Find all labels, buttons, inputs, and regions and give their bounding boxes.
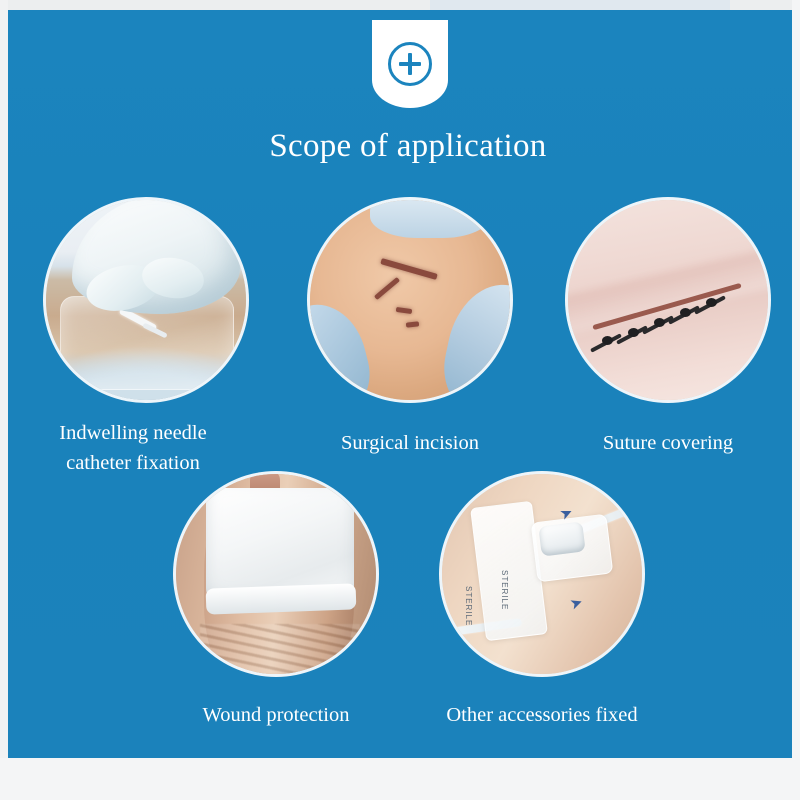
suture-knot bbox=[654, 318, 665, 327]
suture-knot bbox=[706, 298, 717, 307]
suture-knot bbox=[602, 336, 613, 345]
bottom-margin-strip bbox=[0, 758, 800, 800]
left-margin-strip bbox=[0, 0, 8, 800]
caption-other-accessories-fixed: Other accessories fixed bbox=[412, 700, 672, 730]
suture-knot bbox=[628, 328, 639, 337]
page-title: Scope of application bbox=[8, 128, 800, 165]
photo-surgical-incision bbox=[310, 200, 510, 400]
catheter-hub-shape bbox=[538, 521, 585, 556]
caption-surgical-incision: Surgical incision bbox=[298, 428, 522, 458]
right-margin-strip bbox=[792, 0, 800, 800]
tape-label-text: STERILE bbox=[500, 570, 509, 610]
gauze-edge-shape bbox=[206, 583, 357, 614]
caption-indwelling-needle: Indwelling needle catheter fixation bbox=[8, 418, 258, 478]
caption-suture-covering: Suture covering bbox=[556, 428, 780, 458]
top-margin-strip bbox=[0, 0, 800, 10]
plus-vertical-bar bbox=[408, 53, 412, 75]
tape-label-text: STERILE bbox=[464, 586, 473, 626]
caption-wound-protection: Wound protection bbox=[148, 700, 404, 730]
surgical-drape-shape bbox=[370, 200, 490, 238]
photo-indwelling-needle bbox=[46, 200, 246, 400]
blue-banner-panel: Scope of application Indwelling needle c… bbox=[8, 10, 792, 758]
badge-tab bbox=[372, 20, 448, 108]
plus-in-circle-icon bbox=[388, 42, 432, 86]
poster-canvas: Scope of application Indwelling needle c… bbox=[0, 0, 800, 800]
top-margin-tint bbox=[430, 0, 730, 10]
photo-wound-protection bbox=[176, 474, 376, 674]
photo-suture-covering bbox=[568, 200, 768, 400]
skin-wrinkle-texture bbox=[200, 624, 360, 674]
suture-knot bbox=[680, 308, 691, 317]
photo-other-accessories-fixed: ➤ ➤ STERILE STERILE bbox=[442, 474, 642, 674]
